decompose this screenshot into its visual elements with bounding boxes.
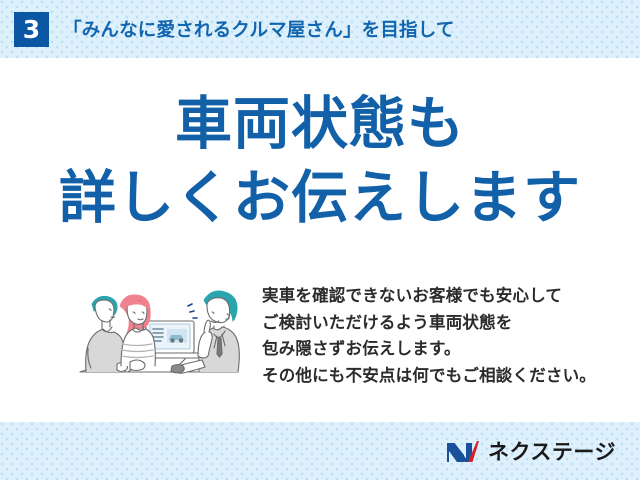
header: 3 「みんなに愛されるクルマ屋さん」を目指して (0, 0, 455, 58)
headline-line-1: 車両状態も (0, 92, 640, 158)
consultation-illustration-svg (62, 276, 254, 392)
nextage-n-logo-icon (446, 439, 480, 464)
body-copy-line-4: その他にも不安点は何でもご相談ください。 (262, 363, 596, 390)
body-copy-line-2: ご検討いただけるよう車両状態を (262, 310, 596, 337)
brand-logo: ネクステージ (446, 422, 616, 480)
promo-slide: 3 「みんなに愛されるクルマ屋さん」を目指して 車両状態も 詳しくお伝えします (0, 0, 640, 480)
consultation-illustration (62, 276, 254, 392)
headline-line-2: 詳しくお伝えします (0, 166, 640, 232)
headline: 車両状態も 詳しくお伝えします (0, 92, 640, 231)
step-number-badge: 3 (14, 12, 49, 47)
header-title: 「みんなに愛されるクルマ屋さん」を目指して (63, 16, 455, 42)
body-copy: 実車を確認できないお客様でも安心して ご検討いただけるよう車両状態を 包み隠さず… (262, 283, 596, 390)
brand-logo-text: ネクステージ (488, 436, 616, 466)
body-copy-line-3: 包み隠さずお伝えします。 (262, 336, 596, 363)
body-copy-line-1: 実車を確認できないお客様でも安心して (262, 283, 596, 310)
